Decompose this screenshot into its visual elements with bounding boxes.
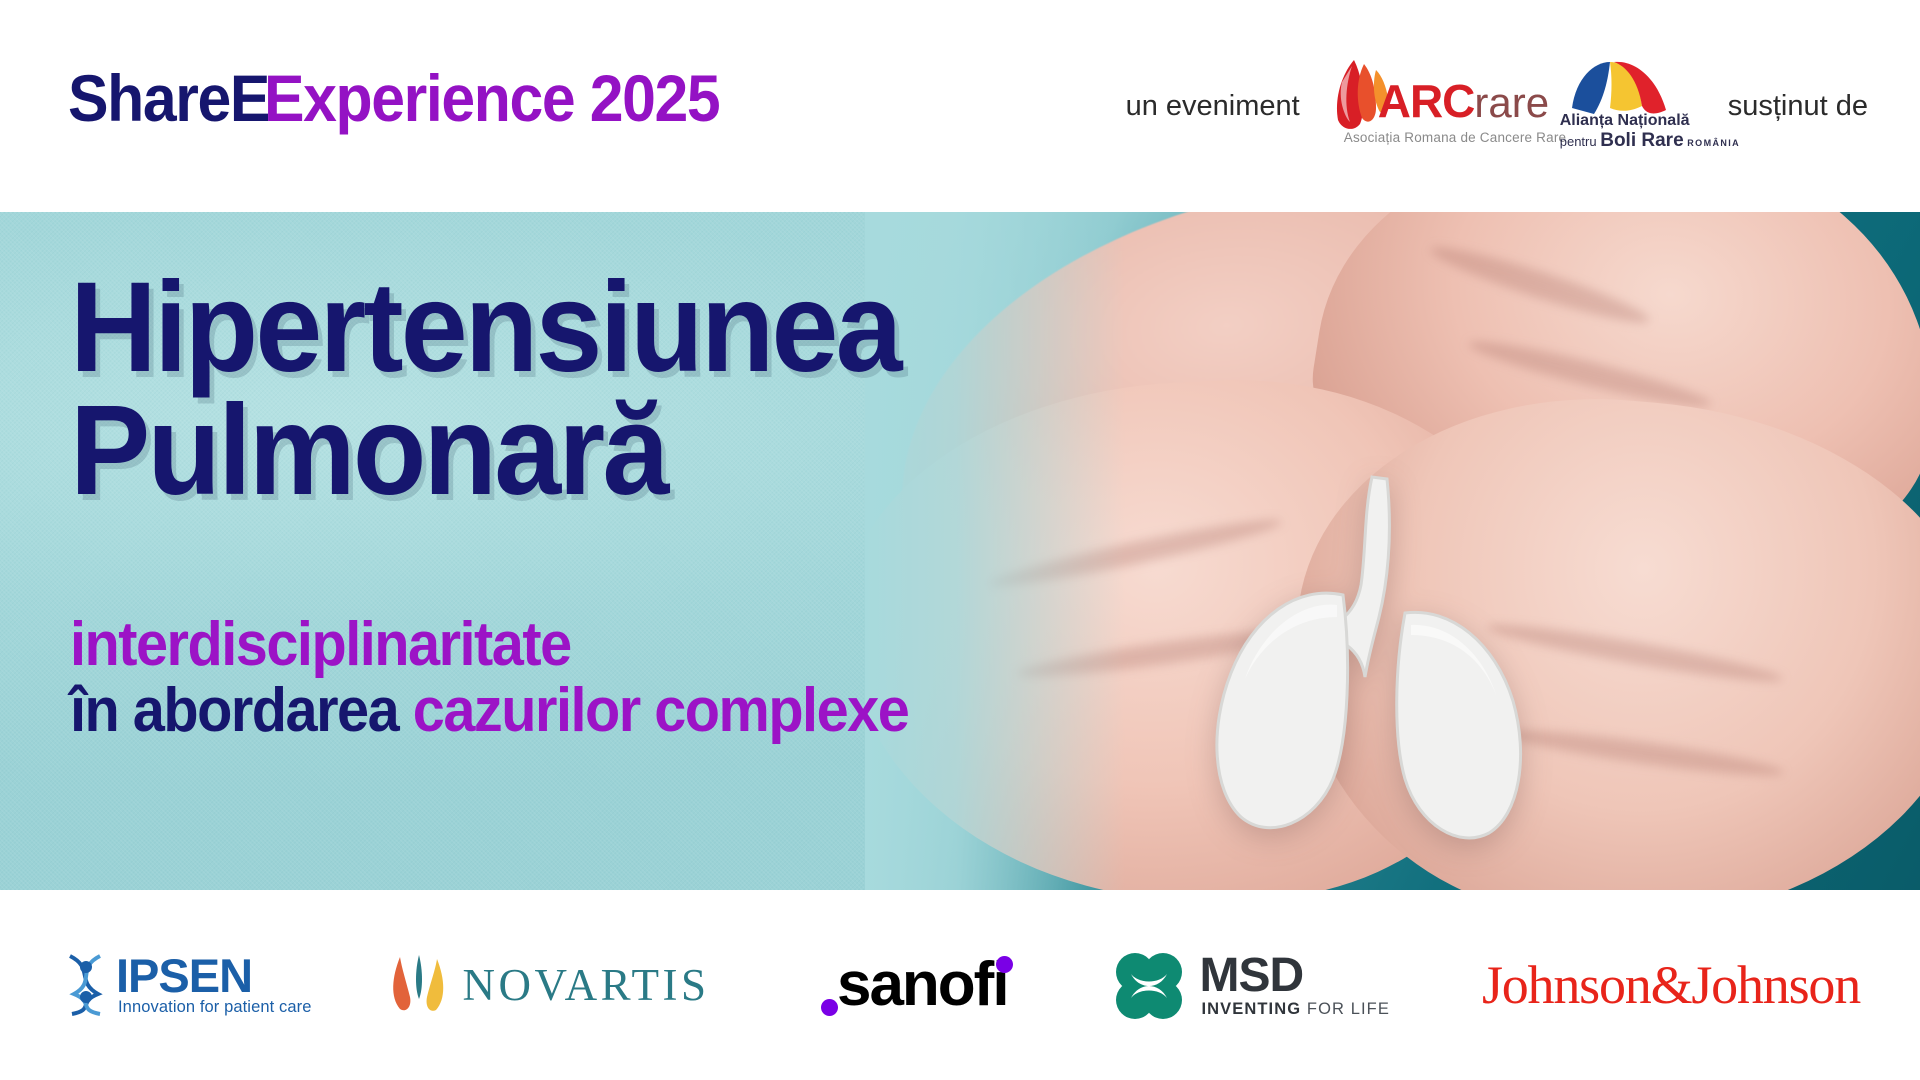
hero-section: Hipertensiunea Pulmonară interdisciplina… <box>0 212 1920 890</box>
brand-logo[interactable]: ShareE Experience 2025 <box>68 60 759 140</box>
sponsor-msd[interactable]: MSD INVENTING FOR LIFE <box>1111 944 1401 1026</box>
hero-subheadline: interdisciplinaritate în abordarea cazur… <box>70 612 971 743</box>
poster-root: ShareE Experience 2025 un eveniment ARCr… <box>0 0 1920 1080</box>
arcrare-tagline: Asociația Romana de Cancere Rare <box>1344 130 1567 145</box>
msd-tagline-rest: FOR LIFE <box>1307 1000 1390 1018</box>
hero-photo <box>865 212 1920 890</box>
headline-line-2: Pulmonară <box>70 390 900 513</box>
subheadline-line-2: în abordarea cazurilor complexe <box>70 678 908 744</box>
umbrella-icon <box>1568 58 1692 116</box>
header-bar: ShareE Experience 2025 un eveniment ARCr… <box>0 0 1920 212</box>
headline-line-1: Hipertensiunea <box>70 267 900 390</box>
msd-tagline: INVENTING FOR LIFE <box>1201 1000 1390 1019</box>
sponsor-bar: IPSEN Innovation for patient care NOVART… <box>0 890 1920 1080</box>
ipsen-tagline: Innovation for patient care <box>118 998 312 1017</box>
sponsor-johnson-and-johnson[interactable]: Johnson&Johnson <box>1482 954 1860 1016</box>
sponsor-ipsen[interactable]: IPSEN Innovation for patient care <box>60 946 310 1024</box>
arcrare-wordmark: ARCrare <box>1378 74 1549 128</box>
header-partner-group: un eveniment ARCrare Asociația Romana de… <box>1126 46 1868 166</box>
alianta-line2: pentru Boli Rare ROMÂNIA <box>1560 130 1740 152</box>
support-label: susținut de <box>1728 90 1868 123</box>
msd-clover-icon <box>1111 950 1187 1022</box>
hero-headline: Hipertensiunea Pulmonară <box>70 267 953 513</box>
alianta-boli-rare-logo[interactable]: Alianța Națională pentru Boli Rare ROMÂN… <box>1554 54 1706 158</box>
ipsen-helix-icon <box>60 952 112 1016</box>
brand-logo-experience: Experience 2025 <box>264 60 719 136</box>
arc-suffix: rare <box>1474 79 1549 126</box>
subheadline-line-1: interdisciplinaritate <box>70 612 908 678</box>
subheadline-navy: în abordarea <box>70 676 398 745</box>
msd-wordmark: MSD <box>1199 948 1303 1003</box>
msd-tagline-bold: INVENTING <box>1201 1000 1301 1018</box>
subheadline-purple: cazurilor complexe <box>413 676 909 745</box>
novartis-wordmark: NOVARTIS <box>462 959 709 1011</box>
arcrare-logo[interactable]: ARCrare Asociația Romana de Cancere Rare <box>1322 54 1532 158</box>
brand-logo-share: ShareE <box>68 60 269 136</box>
sanofi-wordmark: sanofi <box>837 949 1008 1020</box>
paper-lungs-illustration <box>1165 467 1585 847</box>
novartis-flame-icon <box>390 953 448 1015</box>
sponsor-novartis[interactable]: NOVARTIS <box>390 949 740 1021</box>
sponsor-sanofi[interactable]: sanofi <box>821 949 1031 1021</box>
alianta-pentru: pentru <box>1560 134 1597 149</box>
event-label: un eveniment <box>1126 90 1300 123</box>
ipsen-wordmark: IPSEN <box>116 948 252 1003</box>
alianta-boli-rare: Boli Rare <box>1600 130 1683 151</box>
arc-main: ARC <box>1378 75 1475 127</box>
alianta-country: ROMÂNIA <box>1687 138 1740 148</box>
sanofi-leading-dot-icon <box>821 999 838 1016</box>
sanofi-i-dot-icon <box>996 956 1013 973</box>
alianta-line1: Alianța Națională <box>1560 112 1690 130</box>
jnj-wordmark: Johnson&Johnson <box>1482 954 1860 1016</box>
